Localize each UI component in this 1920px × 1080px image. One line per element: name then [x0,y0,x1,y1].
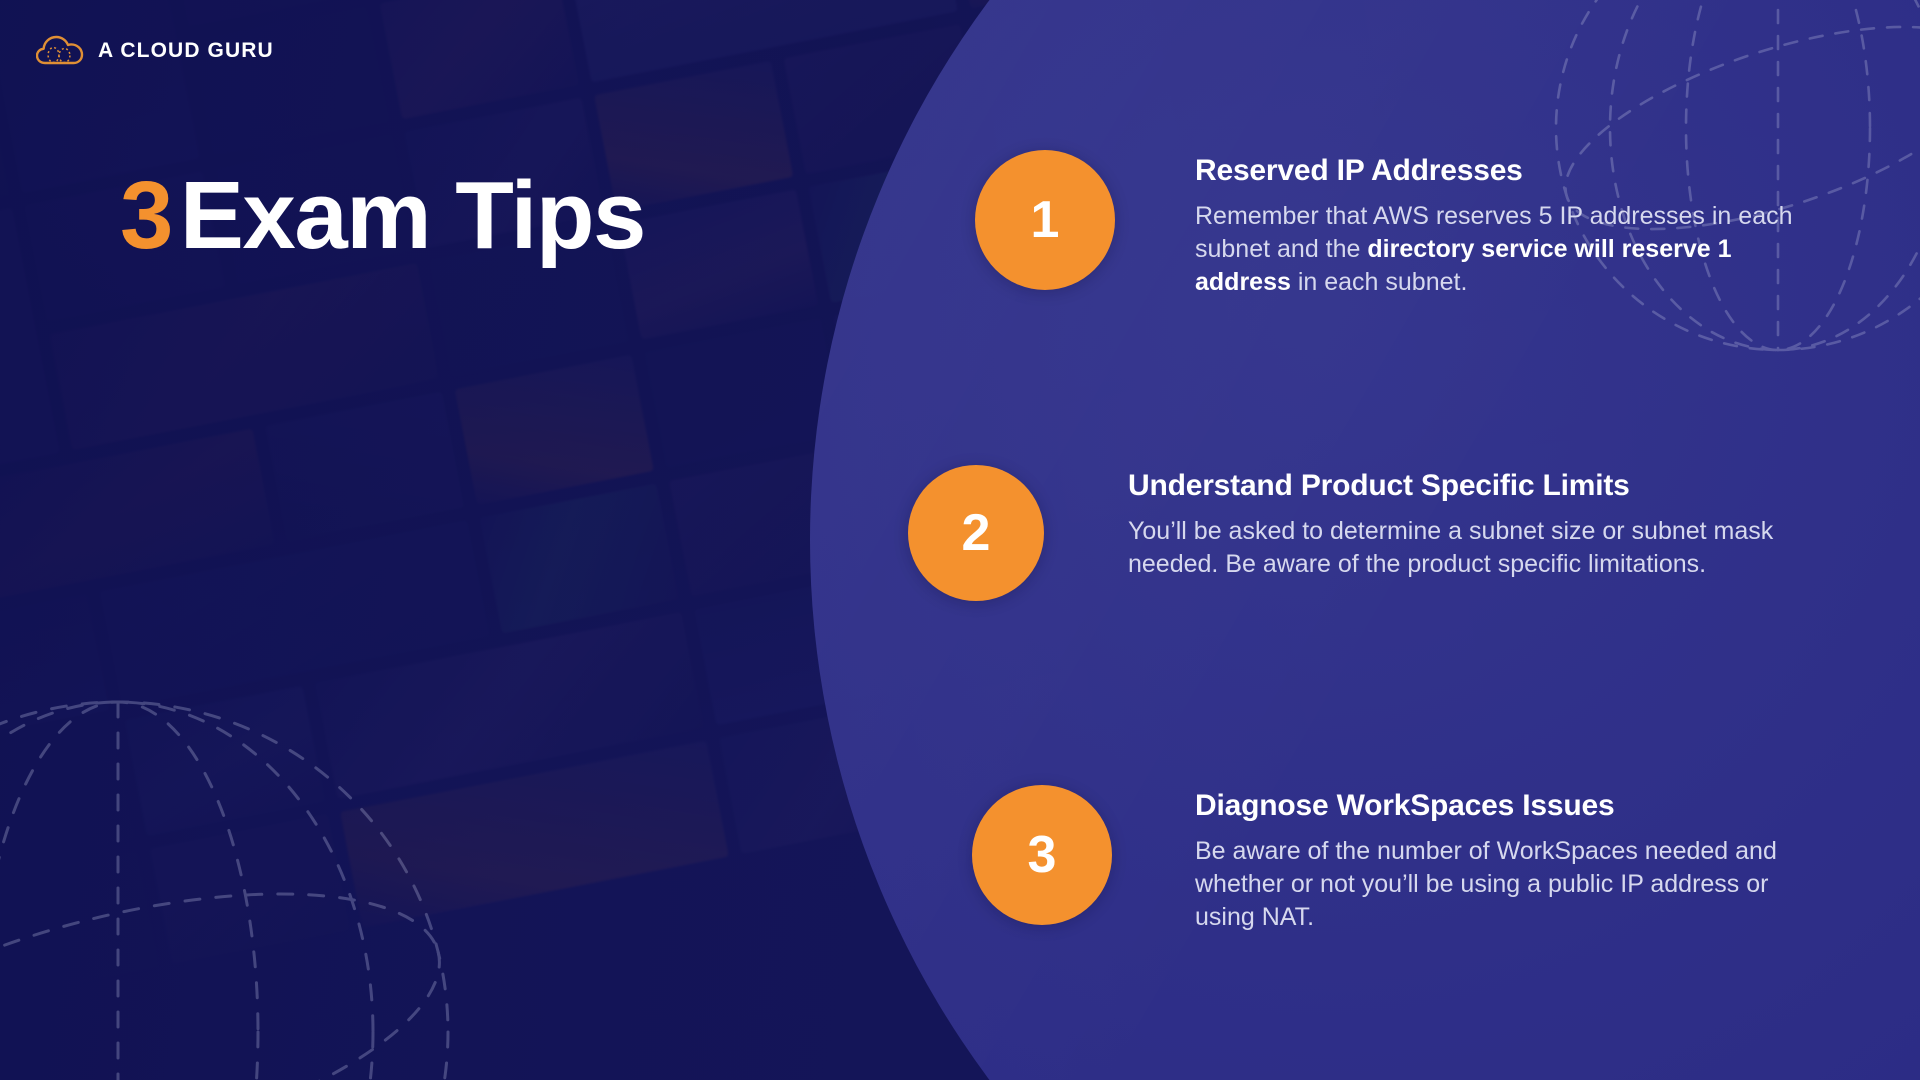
tip-text-1: Remember that AWS reserves 5 IP addresse… [1195,200,1815,299]
tip-item-2: 2 Understand Product Specific Limits You… [908,465,1788,601]
tip-title-3: Diagnose WorkSpaces Issues [1195,789,1815,823]
tip-body-1: Reserved IP Addresses Remember that AWS … [1195,150,1815,299]
tip-badge-1: 1 [975,150,1115,290]
tip-body-2: Understand Product Specific Limits You’l… [1128,465,1788,581]
page-title: 3Exam Tips [120,168,645,264]
headline-number: 3 [120,162,172,269]
tip-title-2: Understand Product Specific Limits [1128,469,1788,503]
tip-item-1: 1 Reserved IP Addresses Remember that AW… [975,150,1815,299]
brand-logo[interactable]: A CLOUD GURU [36,33,274,69]
tip-title-1: Reserved IP Addresses [1195,154,1815,188]
dashed-globe-icon [0,652,498,1080]
cloud-icon [36,33,84,69]
tip-badge-2: 2 [908,465,1044,601]
headline-words: Exam Tips [180,162,645,269]
slide-canvas: A CLOUD GURU 3Exam Tips 1 Reserved IP Ad… [0,0,1920,1080]
tip-item-3: 3 Diagnose WorkSpaces Issues Be aware of… [972,785,1815,934]
tip-body-3: Diagnose WorkSpaces Issues Be aware of t… [1195,785,1815,934]
tip-text-3: Be aware of the number of WorkSpaces nee… [1195,835,1815,934]
tip-text-2: You’ll be asked to determine a subnet si… [1128,515,1788,581]
tip-badge-3: 3 [972,785,1112,925]
brand-name: A CLOUD GURU [98,39,274,63]
